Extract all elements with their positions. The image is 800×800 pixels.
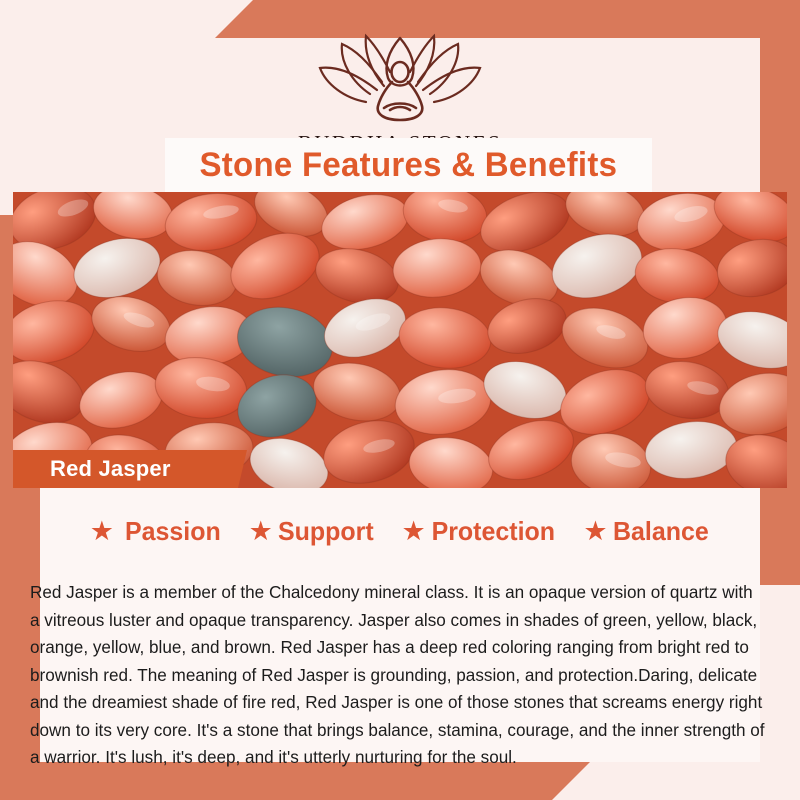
infographic-page: BUDDHA STONES Stone Features & Benefits — [0, 0, 800, 800]
benefit-item-support: ★ Support — [249, 516, 376, 547]
product-name-banner: Red Jasper — [13, 450, 247, 488]
star-icon: ★ — [90, 518, 114, 545]
lotus-meditation-figure-icon — [314, 32, 486, 129]
benefits-row: ★ Passion ★ Support ★ Protection ★ Balan… — [13, 516, 787, 547]
product-description: Red Jasper is a member of the Chalcedony… — [30, 579, 765, 772]
benefit-label: Support — [278, 516, 374, 547]
benefit-item-passion: ★ Passion — [90, 516, 223, 547]
benefit-label: Balance — [613, 516, 709, 547]
product-photo — [13, 192, 787, 488]
benefit-label: Protection — [431, 516, 554, 547]
star-icon: ★ — [583, 518, 607, 545]
benefit-item-balance: ★ Balance — [583, 516, 710, 547]
star-icon: ★ — [249, 518, 273, 545]
star-icon: ★ — [402, 518, 426, 545]
page-title: Stone Features & Benefits — [200, 146, 618, 185]
frame-band-top — [215, 0, 800, 38]
benefit-item-protection: ★ Protection — [402, 516, 558, 547]
title-plate: Stone Features & Benefits — [165, 138, 652, 192]
product-name: Red Jasper — [50, 456, 171, 482]
benefit-label: Passion — [125, 516, 221, 547]
